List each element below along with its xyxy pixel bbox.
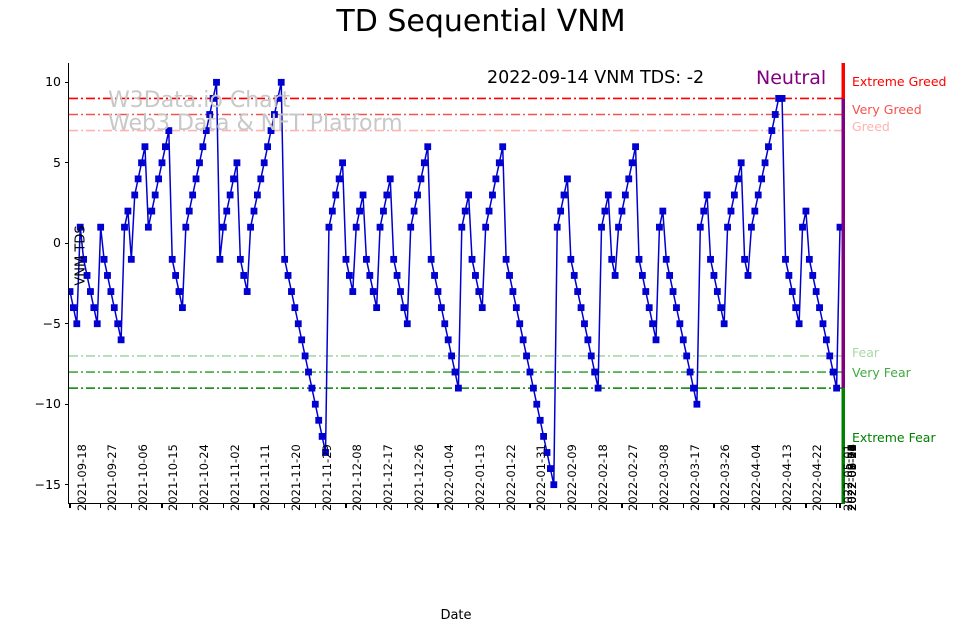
data-point-marker <box>547 465 553 471</box>
data-point-marker <box>411 208 417 214</box>
data-point-marker <box>363 256 369 262</box>
data-point-marker <box>142 144 148 150</box>
data-point-marker <box>714 288 720 294</box>
data-point-marker <box>329 208 335 214</box>
x-tick-mark <box>192 504 193 508</box>
data-point-marker <box>295 321 301 327</box>
data-point-marker <box>104 272 110 278</box>
x-tick-mark <box>468 504 469 508</box>
page-title: TD Sequential VNM <box>0 4 962 39</box>
data-point-marker <box>466 192 472 198</box>
data-point-marker <box>609 256 615 262</box>
data-point-marker <box>755 192 761 198</box>
data-point-marker <box>772 111 778 117</box>
data-point-marker <box>663 256 669 262</box>
data-point-marker <box>343 256 349 262</box>
x-tick-label: 2022-03-17 <box>688 444 702 511</box>
data-point-marker <box>350 288 356 294</box>
x-tick-mark <box>652 504 653 508</box>
x-tick-label: 2022-01-31 <box>534 444 548 511</box>
data-point-marker <box>493 176 499 182</box>
data-point-marker <box>121 224 127 230</box>
x-tick-mark <box>805 504 806 508</box>
x-tick-mark <box>161 504 162 508</box>
zone-label-fear: Fear <box>852 345 879 360</box>
data-point-marker <box>261 160 267 166</box>
data-point-marker <box>155 176 161 182</box>
x-tick-mark <box>839 504 840 508</box>
data-point-marker <box>408 224 414 230</box>
data-point-marker <box>769 127 775 133</box>
y-axis-title: VNM TDS <box>74 196 89 316</box>
y-tick-mark <box>65 404 69 405</box>
data-series-group <box>69 79 843 488</box>
x-tick-mark <box>529 504 530 508</box>
edge-bar-0 <box>842 63 846 98</box>
data-point-marker <box>820 321 826 327</box>
data-point-marker <box>237 256 243 262</box>
data-point-marker <box>380 208 386 214</box>
data-point-marker <box>258 176 264 182</box>
data-point-marker <box>285 272 291 278</box>
y-tick-mark <box>65 82 69 83</box>
x-tick-mark <box>621 504 622 508</box>
data-point-marker <box>650 321 656 327</box>
plot-area: 1050−5−10−15 2021-09-182021-09-272021-10… <box>68 63 844 504</box>
data-point-marker <box>183 224 189 230</box>
data-point-marker <box>540 433 546 439</box>
data-point-marker <box>101 256 107 262</box>
data-point-marker <box>496 160 502 166</box>
data-point-marker <box>476 288 482 294</box>
x-tick-label: 2022-02-27 <box>626 444 640 511</box>
data-point-marker <box>816 305 822 311</box>
chart-figure: TD Sequential VNM 1050−5−10−15 2021-09-1… <box>0 0 962 633</box>
x-tick-label: 2022-04-13 <box>780 444 794 511</box>
data-point-marker <box>530 385 536 391</box>
right-edge-bars-group <box>842 63 846 504</box>
data-point-marker <box>111 305 117 311</box>
data-point-marker <box>728 208 734 214</box>
x-tick-mark <box>376 504 377 508</box>
data-point-marker <box>159 160 165 166</box>
data-point-marker <box>278 79 284 85</box>
data-point-marker <box>469 256 475 262</box>
data-point-marker <box>670 288 676 294</box>
data-point-marker <box>731 192 737 198</box>
data-point-marker <box>397 288 403 294</box>
data-point-marker <box>789 288 795 294</box>
data-point-marker <box>724 224 730 230</box>
data-point-marker <box>247 224 253 230</box>
x-axis-title: Date <box>0 608 912 623</box>
data-point-marker <box>523 353 529 359</box>
data-point-marker <box>241 272 247 278</box>
data-point-marker <box>169 256 175 262</box>
data-point-marker <box>568 256 574 262</box>
x-tick-mark <box>775 504 776 508</box>
x-tick-label: 2021-09-27 <box>105 444 119 511</box>
data-point-marker <box>333 192 339 198</box>
data-point-marker <box>69 288 73 294</box>
data-point-marker <box>762 160 768 166</box>
data-point-marker <box>275 95 281 101</box>
data-point-marker <box>91 305 97 311</box>
data-point-marker <box>506 272 512 278</box>
x-tick-mark <box>499 504 500 508</box>
x-tick-mark <box>713 504 714 508</box>
data-point-marker <box>224 208 230 214</box>
data-point-marker <box>98 224 104 230</box>
x-tick-label: 2022-02-09 <box>565 444 579 511</box>
zone-label-very-fear: Very Fear <box>852 365 911 380</box>
data-point-marker <box>738 160 744 166</box>
y-tick-label: −15 <box>27 477 61 492</box>
x-tick-mark <box>683 504 684 508</box>
data-point-marker <box>656 224 662 230</box>
data-point-marker <box>152 192 158 198</box>
data-point-marker <box>394 272 400 278</box>
data-point-marker <box>643 288 649 294</box>
data-point-marker <box>673 305 679 311</box>
data-point-marker <box>414 192 420 198</box>
x-tick-mark <box>284 504 285 508</box>
data-point-marker <box>367 272 373 278</box>
data-point-marker <box>707 256 713 262</box>
x-tick-mark <box>345 504 346 508</box>
data-point-marker <box>227 192 233 198</box>
data-point-marker <box>813 288 819 294</box>
zone-label-extreme-fear: Extreme Fear <box>852 430 936 445</box>
data-point-marker <box>265 144 271 150</box>
data-point-marker <box>619 208 625 214</box>
zone-label-very-greed: Very Greed <box>852 102 922 117</box>
data-point-marker <box>455 385 461 391</box>
data-point-marker <box>503 256 509 262</box>
data-point-marker <box>207 111 213 117</box>
data-point-marker <box>578 305 584 311</box>
data-point-marker <box>660 208 666 214</box>
data-point-marker <box>615 224 621 230</box>
y-tick-label: 10 <box>27 74 61 89</box>
data-point-marker <box>357 208 363 214</box>
data-point-marker <box>377 224 383 230</box>
data-point-marker <box>537 417 543 423</box>
data-point-marker <box>374 305 380 311</box>
data-point-marker <box>176 288 182 294</box>
data-point-marker <box>299 337 305 343</box>
data-point-marker <box>585 337 591 343</box>
data-point-marker <box>629 160 635 166</box>
x-tick-mark <box>836 504 837 508</box>
x-tick-mark <box>223 504 224 508</box>
data-point-marker <box>196 160 202 166</box>
data-point-marker <box>435 288 441 294</box>
data-point-marker <box>793 305 799 311</box>
data-point-marker <box>694 401 700 407</box>
y-tick-label: −10 <box>27 396 61 411</box>
data-point-marker <box>213 79 219 85</box>
data-point-marker <box>554 224 560 230</box>
x-tick-label: 2022-01-04 <box>442 444 456 511</box>
data-point-marker <box>803 208 809 214</box>
data-point-marker <box>833 385 839 391</box>
data-point-marker <box>558 208 564 214</box>
data-point-marker <box>118 337 124 343</box>
x-tick-label: 2021-12-17 <box>381 444 395 511</box>
data-point-marker <box>445 337 451 343</box>
y-tick-mark <box>65 162 69 163</box>
data-point-marker <box>418 176 424 182</box>
data-point-marker <box>448 353 454 359</box>
data-point-marker <box>271 111 277 117</box>
data-point-marker <box>190 192 196 198</box>
series-line <box>70 82 840 484</box>
x-tick-mark <box>253 504 254 508</box>
data-point-marker <box>680 337 686 343</box>
data-point-marker <box>759 176 765 182</box>
x-tick-label: 2022-01-13 <box>473 444 487 511</box>
data-point-marker <box>592 369 598 375</box>
data-point-marker <box>571 272 577 278</box>
data-point-marker <box>489 192 495 198</box>
data-point-marker <box>602 208 608 214</box>
data-point-marker <box>268 127 274 133</box>
data-point-marker <box>384 192 390 198</box>
data-point-marker <box>653 337 659 343</box>
data-point-marker <box>138 160 144 166</box>
data-point-marker <box>748 224 754 230</box>
data-point-marker <box>431 272 437 278</box>
data-point-marker <box>500 144 506 150</box>
data-point-marker <box>312 401 318 407</box>
data-point-marker <box>135 176 141 182</box>
data-point-marker <box>745 272 751 278</box>
data-point-marker <box>210 95 216 101</box>
zone-label-greed: Greed <box>852 119 890 134</box>
x-tick-label: 2021-09-18 <box>75 444 89 511</box>
x-tick-label: 2022-03-08 <box>657 444 671 511</box>
data-point-marker <box>786 272 792 278</box>
data-point-marker <box>288 288 294 294</box>
x-tick-label: 2021-12-26 <box>412 444 426 511</box>
y-tick-label: 0 <box>27 235 61 250</box>
data-point-marker <box>230 176 236 182</box>
x-tick-label: 2021-11-11 <box>258 444 272 511</box>
data-point-marker <box>581 321 587 327</box>
data-point-marker <box>166 127 172 133</box>
data-point-marker <box>186 208 192 214</box>
data-point-marker <box>162 144 168 150</box>
data-point-marker <box>462 208 468 214</box>
data-point-marker <box>687 369 693 375</box>
data-point-marker <box>179 305 185 311</box>
data-point-marker <box>779 95 785 101</box>
data-point-marker <box>125 208 131 214</box>
data-point-marker <box>452 369 458 375</box>
edge-bar-1 <box>842 98 846 388</box>
data-point-marker <box>309 385 315 391</box>
data-point-marker <box>108 288 114 294</box>
x-tick-mark <box>744 504 745 508</box>
x-tick-label: 2021-10-24 <box>197 444 211 511</box>
data-point-marker <box>459 224 465 230</box>
data-point-marker <box>360 192 366 198</box>
data-point-marker <box>704 192 710 198</box>
data-point-marker <box>612 272 618 278</box>
data-point-marker <box>193 176 199 182</box>
data-point-marker <box>626 176 632 182</box>
data-point-marker <box>425 144 431 150</box>
data-point-marker <box>551 482 557 488</box>
data-point-marker <box>203 127 209 133</box>
data-point-marker <box>636 256 642 262</box>
data-point-marker <box>575 288 581 294</box>
x-tick-mark <box>560 504 561 508</box>
data-point-marker <box>200 144 206 150</box>
x-tick-label: 2021-11-02 <box>228 444 242 511</box>
x-tick-label: 2022-01-22 <box>504 444 518 511</box>
data-point-marker <box>684 353 690 359</box>
plot-svg <box>69 63 845 504</box>
x-tick-label: 2021-11-20 <box>289 444 303 511</box>
data-point-marker <box>370 288 376 294</box>
x-tick-label: 2022-04-22 <box>810 444 824 511</box>
data-point-marker <box>721 321 727 327</box>
data-point-marker <box>401 305 407 311</box>
data-point-marker <box>128 256 134 262</box>
data-point-marker <box>353 224 359 230</box>
data-point-marker <box>632 144 638 150</box>
y-tick-mark <box>65 484 69 485</box>
x-tick-label: 2022-03-26 <box>718 444 732 511</box>
data-point-marker <box>605 192 611 198</box>
data-point-marker <box>132 192 138 198</box>
y-tick-label: −5 <box>27 316 61 331</box>
x-tick-mark <box>407 504 408 508</box>
data-point-marker <box>74 321 80 327</box>
data-point-marker <box>527 369 533 375</box>
data-point-marker <box>806 256 812 262</box>
data-point-marker <box>796 321 802 327</box>
data-point-marker <box>711 272 717 278</box>
data-point-marker <box>339 160 345 166</box>
data-point-marker <box>827 353 833 359</box>
data-point-marker <box>677 321 683 327</box>
sentiment-badge: Neutral <box>756 67 826 89</box>
data-point-marker <box>752 208 758 214</box>
data-point-marker <box>799 224 805 230</box>
x-tick-mark <box>315 504 316 508</box>
data-point-marker <box>718 305 724 311</box>
x-tick-label: 2021-10-15 <box>166 444 180 511</box>
data-point-marker <box>173 272 179 278</box>
data-point-marker <box>391 256 397 262</box>
y-tick-mark <box>65 323 69 324</box>
x-tick-label: 2022-09-13 <box>845 444 859 511</box>
data-point-marker <box>598 224 604 230</box>
data-point-marker <box>646 305 652 311</box>
data-point-marker <box>438 305 444 311</box>
x-tick-label: 2021-11-29 <box>320 444 334 511</box>
x-tick-label: 2021-10-06 <box>136 444 150 511</box>
data-point-marker <box>472 272 478 278</box>
x-tick-mark <box>69 504 70 508</box>
data-point-marker <box>404 321 410 327</box>
data-point-marker <box>697 224 703 230</box>
data-point-marker <box>667 272 673 278</box>
data-point-marker <box>220 224 226 230</box>
data-point-marker <box>534 401 540 407</box>
data-point-marker <box>282 256 288 262</box>
data-point-marker <box>517 321 523 327</box>
data-point-marker <box>251 208 257 214</box>
x-tick-label: 2021-12-08 <box>350 444 364 511</box>
x-tick-label: 2022-02-18 <box>596 444 610 511</box>
data-point-marker <box>595 385 601 391</box>
data-point-marker <box>254 192 260 198</box>
data-point-marker <box>483 224 489 230</box>
data-point-marker <box>336 176 342 182</box>
data-point-marker <box>510 288 516 294</box>
data-point-marker <box>305 369 311 375</box>
data-point-marker <box>145 224 151 230</box>
data-point-marker <box>217 256 223 262</box>
data-point-marker <box>810 272 816 278</box>
data-point-marker <box>442 321 448 327</box>
data-point-marker <box>735 176 741 182</box>
data-point-marker <box>830 369 836 375</box>
x-tick-mark <box>591 504 592 508</box>
data-point-marker <box>428 256 434 262</box>
data-point-marker <box>94 321 100 327</box>
data-point-marker <box>823 337 829 343</box>
data-point-marker <box>316 417 322 423</box>
data-point-marker <box>326 224 332 230</box>
data-point-marker <box>302 353 308 359</box>
x-tick-mark <box>100 504 101 508</box>
data-point-marker <box>486 208 492 214</box>
x-tick-mark <box>437 504 438 508</box>
data-point-marker <box>244 288 250 294</box>
data-point-marker <box>292 305 298 311</box>
data-point-marker <box>622 192 628 198</box>
data-point-marker <box>561 192 567 198</box>
data-point-marker <box>765 144 771 150</box>
data-point-marker <box>564 176 570 182</box>
data-point-marker <box>520 337 526 343</box>
x-tick-mark <box>131 504 132 508</box>
data-point-marker <box>234 160 240 166</box>
current-readout: 2022-09-14 VNM TDS: -2 <box>487 68 704 88</box>
data-point-marker <box>387 176 393 182</box>
data-point-marker <box>479 305 485 311</box>
y-tick-mark <box>65 243 69 244</box>
data-point-marker <box>115 321 121 327</box>
data-point-marker <box>149 208 155 214</box>
x-tick-label: 2022-04-04 <box>749 444 763 511</box>
data-point-marker <box>513 305 519 311</box>
data-point-marker <box>639 272 645 278</box>
data-point-marker <box>588 353 594 359</box>
data-point-marker <box>421 160 427 166</box>
data-point-marker <box>346 272 352 278</box>
y-tick-label: 5 <box>27 155 61 170</box>
zone-label-extreme-greed: Extreme Greed <box>852 74 946 89</box>
data-point-marker <box>742 256 748 262</box>
data-point-marker <box>690 385 696 391</box>
data-point-marker <box>319 433 325 439</box>
